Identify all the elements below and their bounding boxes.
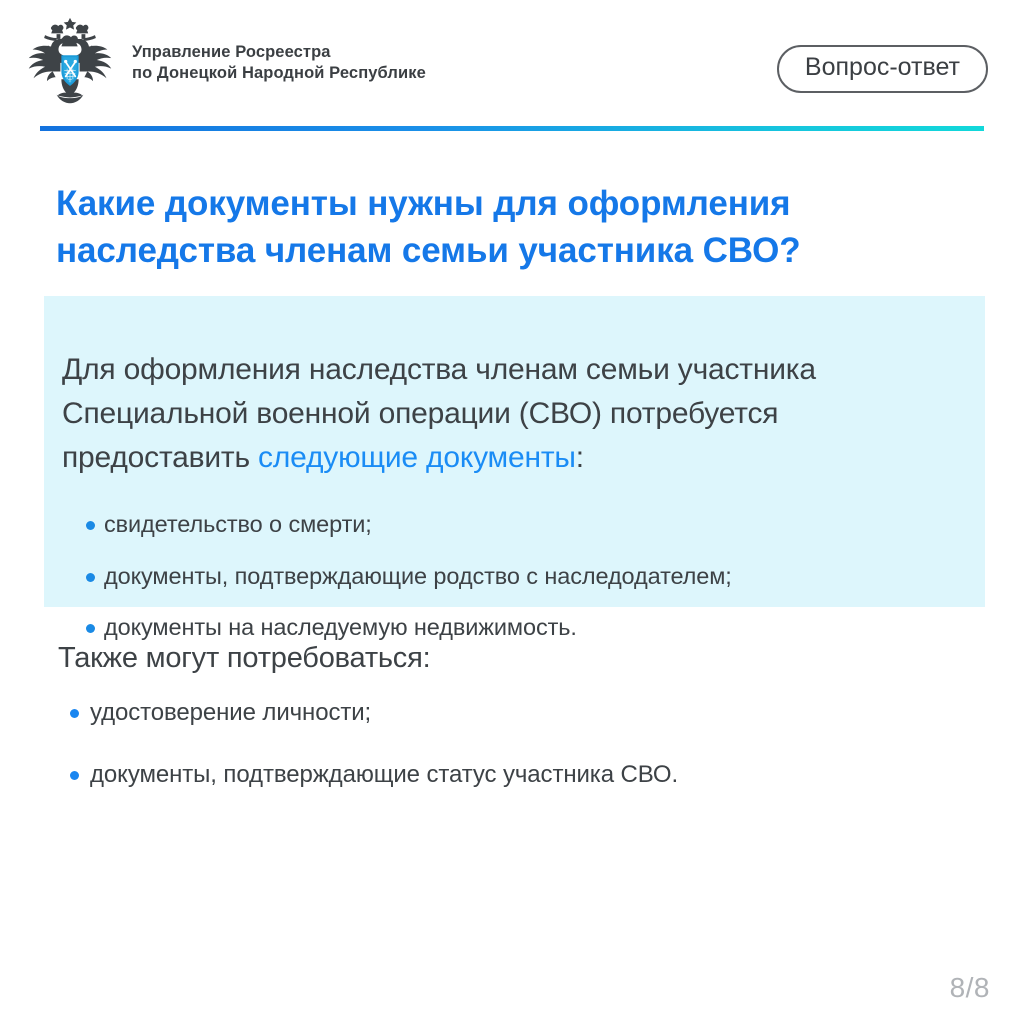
page-number: 8/8 [950,972,990,1004]
list-item: документы, подтверждающие статус участни… [58,760,958,790]
organization-name-line-2: по Донецкой Народной Республике [132,63,426,84]
answer-intro-paragraph: Для оформления наследства членам семьи у… [62,348,959,480]
rosreestr-double-eagle-emblem [22,14,118,108]
answer-intro-highlight: следующие документы [258,441,576,474]
list-item: удостоверение личности; [58,698,958,728]
required-documents-list: свидетельство о смерти; документы, подтв… [62,510,959,642]
page-title: Какие документы нужны для оформления нас… [56,181,966,274]
list-item: документы, подтверждающие родство с насл… [62,562,959,591]
list-item: документы на наследуемую недвижимость. [62,613,959,642]
additional-documents-heading: Также могут потребоваться: [58,642,430,675]
additional-documents-list: удостоверение личности; документы, подтв… [58,698,958,822]
list-item: свидетельство о смерти; [62,510,959,539]
slide-header: Управление Росреестра по Донецкой Народн… [0,0,1024,118]
answer-intro-text-part-2: : [576,441,584,474]
topic-badge: Вопрос-ответ [777,45,988,93]
header-divider [40,126,984,131]
organization-branding: Управление Росреестра по Донецкой Народн… [22,14,426,108]
answer-highlight-box: Для оформления наследства членам семьи у… [44,296,985,607]
organization-name-line-1: Управление Росреестра [132,42,426,63]
organization-name: Управление Росреестра по Донецкой Народн… [132,38,426,85]
